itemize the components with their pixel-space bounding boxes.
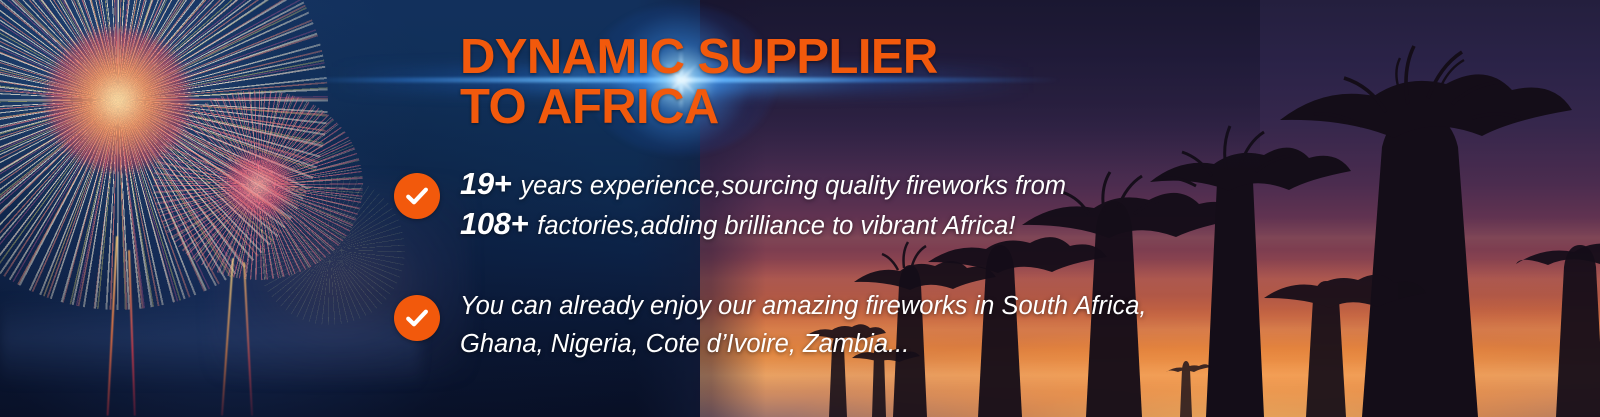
banner-content: DYNAMIC SUPPLIER TO AFRICA 19+years expe… [0,0,1600,417]
bullet-line-2-text: factories,adding brilliance to vibrant A… [537,212,1015,240]
banner-bullet-list: 19+years experience,sourcing quality fir… [394,165,1134,363]
headline-line-1: DYNAMIC SUPPLIER [460,32,938,82]
stat-years: 19+ [460,166,511,201]
bullet-text-experience: 19+years experience,sourcing quality fir… [460,165,1066,245]
banner-headline: DYNAMIC SUPPLIER TO AFRICA [460,32,938,132]
stat-factories: 108+ [460,206,528,241]
bullet-line: Ghana, Nigeria, Cote d’Ivoire, Zambia... [460,325,1147,363]
bullet-text-markets: You can already enjoy our amazing firewo… [460,287,1147,363]
promo-banner: DYNAMIC SUPPLIER TO AFRICA 19+years expe… [0,0,1600,417]
bullet-item-markets: You can already enjoy our amazing firewo… [394,287,1134,363]
check-circle-icon [394,295,440,341]
check-circle-icon [394,173,440,219]
bullet-line: 108+factories,adding brilliance to vibra… [460,205,1066,245]
headline-line-2: TO AFRICA [460,82,938,132]
bullet-line: You can already enjoy our amazing firewo… [460,287,1147,325]
bullet-item-experience: 19+years experience,sourcing quality fir… [394,165,1134,245]
bullet-line-1-text: years experience,sourcing quality firewo… [520,172,1066,200]
bullet-line: 19+years experience,sourcing quality fir… [460,165,1066,205]
